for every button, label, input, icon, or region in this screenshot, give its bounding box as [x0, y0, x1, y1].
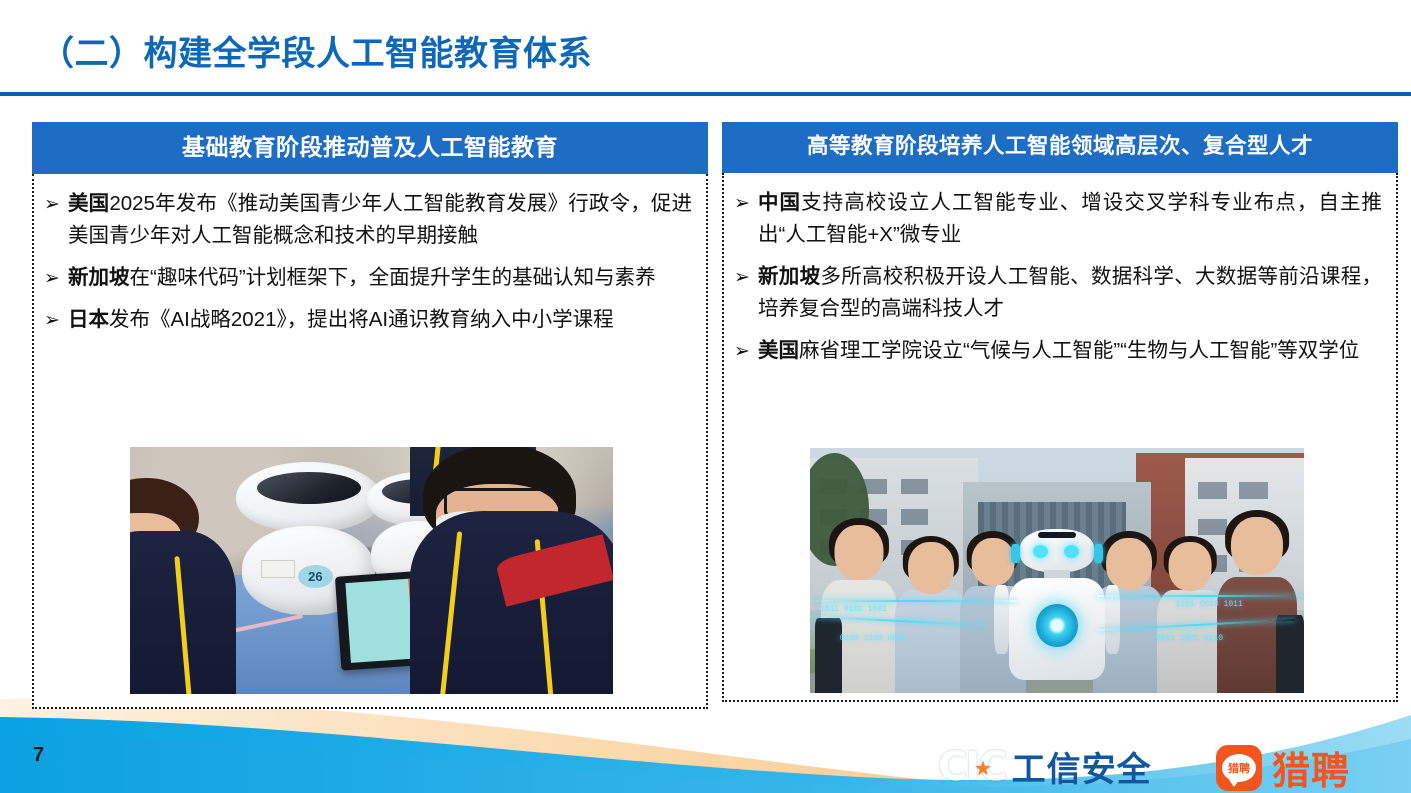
list-item: ➢ 日本发布《AI战略2021》，提出将AI通识教育纳入中小学课程	[44, 304, 692, 336]
list-item: ➢ 美国麻省理工学院设立“气候与人工智能”“生物与人工智能”等双学位	[734, 335, 1382, 367]
arrow-bullet-icon: ➢	[734, 335, 758, 367]
list-item: ➢ 中国支持高校设立人工智能专业、增设交叉学科专业布点，自主推出“人工智能+X”…	[734, 187, 1382, 251]
bullet-text: 新加坡多所高校积极开设人工智能、数据科学、大数据等前沿课程，培养复合型的高端科技…	[758, 261, 1382, 325]
bullet-text: 新加坡在“趣味代码”计划框架下，全面提升学生的基础认知与素养	[68, 262, 692, 294]
student-figure	[894, 536, 968, 693]
arrow-bullet-icon: ➢	[734, 187, 758, 219]
arrow-bullet-icon: ➢	[44, 188, 68, 220]
bullet-rest: 发布《AI战略2021》，提出将AI通识教育纳入中小学课程	[109, 308, 614, 331]
bullet-text: 日本发布《AI战略2021》，提出将AI通识教育纳入中小学课程	[68, 304, 692, 336]
bullet-lead: 新加坡	[68, 266, 130, 289]
cic-chinese-name: 工信安全	[1012, 742, 1152, 791]
bullet-rest: 多所高校积极开设人工智能、数据科学、大数据等前沿课程，培养复合型的高端科技人才	[758, 265, 1382, 320]
data-stream-text: 0110 1110 0011	[840, 634, 907, 643]
title-divider-rule	[0, 92, 1411, 96]
bullet-lead: 新加坡	[758, 265, 820, 288]
logo-liepin: 猎聘 猎聘	[1216, 740, 1350, 793]
data-stream-text: 1101 0010 1011	[1176, 600, 1243, 609]
speech-bubble-icon: 猎聘	[1222, 754, 1256, 782]
slide-root: （二）构建全学段人工智能教育体系 基础教育阶段推动普及人工智能教育 ➢ 美国20…	[0, 0, 1411, 793]
humanoid-robot-icon	[1003, 529, 1112, 693]
student-figure	[410, 511, 613, 694]
bullet-rest: 麻省理工学院设立“气候与人工智能”“生物与人工智能”等双学位	[799, 339, 1359, 362]
bullet-lead: 日本	[68, 308, 109, 331]
liepin-wordmark: 猎聘	[1272, 740, 1350, 793]
bullet-text: 中国支持高校设立人工智能专业、增设交叉学科专业布点，自主推出“人工智能+X”微专…	[758, 187, 1382, 251]
bullet-text: 美国麻省理工学院设立“气候与人工智能”“生物与人工智能”等双学位	[758, 335, 1382, 367]
data-stream-text: 1011 0101 1001	[820, 605, 887, 614]
panel-header-basic-education: 基础教育阶段推动普及人工智能教育	[32, 122, 708, 174]
photo-basic-education-classroom: 26 小学生使用平板电脑与白色教育机器人互动的课堂照片	[130, 447, 613, 694]
photo-higher-education-campus: 1011 0101 1001 0110 1110 0011 1101 0010 …	[810, 448, 1304, 693]
liepin-app-icon: 猎聘	[1216, 745, 1262, 791]
bullet-rest: 2025年发布《推动美国青少年人工智能教育发展》行政令，促进美国青少年对人工智能…	[68, 192, 692, 247]
list-item: ➢ 新加坡在“趣味代码”计划框架下，全面提升学生的基础认知与素养	[44, 262, 692, 294]
panel-header-higher-education: 高等教育阶段培养人工智能领域高层次、复合型人才	[722, 122, 1398, 173]
list-item: ➢ 新加坡多所高校积极开设人工智能、数据科学、大数据等前沿课程，培养复合型的高端…	[734, 261, 1382, 325]
data-stream-text: 0011 1001 0110	[1156, 634, 1223, 643]
arrow-bullet-icon: ➢	[44, 304, 68, 336]
arrow-bullet-icon: ➢	[734, 261, 758, 293]
bullet-lead: 美国	[758, 339, 799, 362]
arrow-bullet-icon: ➢	[44, 262, 68, 294]
bullet-text: 美国2025年发布《推动美国青少年人工智能教育发展》行政令，促进美国青少年对人工…	[68, 188, 692, 252]
bullet-lead: 中国	[758, 191, 801, 214]
bullet-rest: 支持高校设立人工智能专业、增设交叉学科专业布点，自主推出“人工智能+X”微专业	[758, 191, 1382, 246]
student-figure	[130, 531, 236, 694]
cic-letters: CIC ★	[938, 747, 1006, 787]
bullet-list-basic-education: ➢ 美国2025年发布《推动美国青少年人工智能教育发展》行政令，促进美国青少年对…	[44, 188, 692, 336]
page-number: 7	[33, 744, 44, 767]
slide-title: （二）构建全学段人工智能教育体系	[40, 26, 592, 75]
bullet-list-higher-education: ➢ 中国支持高校设立人工智能专业、增设交叉学科专业布点，自主推出“人工智能+X”…	[734, 187, 1382, 367]
liepin-mark-text: 猎聘	[1228, 760, 1250, 776]
robot-badge-number: 26	[298, 565, 333, 588]
list-item: ➢ 美国2025年发布《推动美国青少年人工智能教育发展》行政令，促进美国青少年对…	[44, 188, 692, 252]
bullet-rest: 在“趣味代码”计划框架下，全面提升学生的基础认知与素养	[130, 266, 656, 289]
bullet-lead: 美国	[68, 192, 109, 215]
logo-cic-gongxin-anquan: CIC ★ 工信安全	[938, 742, 1152, 791]
cic-letters-text: CIC	[938, 744, 1006, 790]
